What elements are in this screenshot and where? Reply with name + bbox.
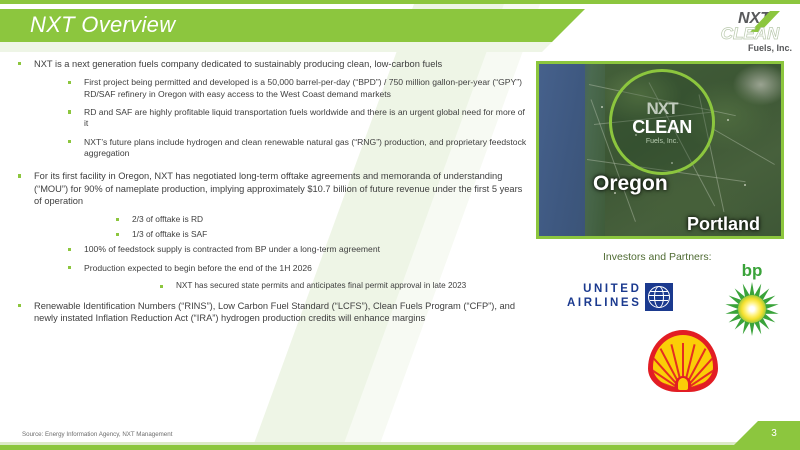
bullet-marker-icon bbox=[68, 248, 71, 251]
bp-helios-icon bbox=[725, 282, 779, 336]
bullet-item: 100% of feedstock supply is contracted f… bbox=[0, 244, 530, 255]
bullet-item: Production expected to begin before the … bbox=[0, 263, 530, 274]
map-canvas: Oregon Portland NXT CLEAN Fuels, Inc. bbox=[539, 64, 781, 236]
bullet-marker-icon bbox=[68, 81, 71, 84]
footer-accent-rule bbox=[0, 445, 800, 450]
bullet-text: First project being permitted and develo… bbox=[84, 77, 522, 98]
bullet-item: NXT is a next generation fuels company d… bbox=[0, 58, 530, 70]
map-badge-fuels: Fuels, Inc. bbox=[646, 138, 678, 145]
united-airlines-wordmark: UNITED AIRLINES bbox=[567, 283, 641, 310]
map-label-state: Oregon bbox=[593, 172, 668, 196]
bullet-text: 100% of feedstock supply is contracted f… bbox=[84, 244, 380, 254]
bp-core bbox=[738, 295, 766, 323]
bullet-text: NXT’s future plans include hydrogen and … bbox=[84, 137, 526, 158]
header-band-shadow bbox=[0, 42, 620, 52]
map-ocean bbox=[539, 64, 585, 236]
bullet-item: For its first facility in Oregon, NXT ha… bbox=[0, 170, 530, 207]
bullet-text: Renewable Identification Numbers (“RINS”… bbox=[34, 301, 515, 323]
bullet-item: 2/3 of offtake is RD bbox=[0, 214, 530, 225]
bullet-marker-icon bbox=[68, 140, 71, 143]
bullet-text: RD and SAF are highly profitable liquid … bbox=[84, 107, 525, 128]
united-line2: AIRLINES bbox=[567, 297, 641, 311]
top-accent-rule bbox=[0, 0, 800, 4]
bullet-text: NXT is a next generation fuels company d… bbox=[34, 59, 442, 69]
investors-heading: Investors and Partners: bbox=[603, 251, 712, 263]
page-number: 3 bbox=[757, 428, 777, 439]
bullet-item: NXT has secured state permits and antici… bbox=[0, 281, 530, 292]
shell-logo bbox=[648, 330, 718, 396]
page-title: NXT Overview bbox=[30, 12, 175, 38]
bullet-marker-icon bbox=[18, 174, 21, 177]
bullet-text: 1/3 of offtake is SAF bbox=[132, 229, 207, 239]
shell-notch-inner bbox=[678, 378, 688, 390]
united-globe-icon bbox=[645, 283, 673, 311]
slide: NXT Overview NXT CLEAN Fuels, Inc. NXT i… bbox=[0, 0, 800, 450]
bullet-text: Production expected to begin before the … bbox=[84, 263, 312, 273]
united-line1: UNITED bbox=[567, 283, 641, 297]
map-marker bbox=[601, 106, 603, 108]
bullet-item: First project being permitted and develo… bbox=[0, 77, 530, 100]
logo-fuels-text: Fuels, Inc. bbox=[748, 43, 792, 53]
bp-logo: bp bbox=[725, 262, 779, 336]
bullet-marker-icon bbox=[116, 218, 119, 221]
map-logo-badge: NXT CLEAN Fuels, Inc. bbox=[609, 69, 715, 175]
bullet-marker-icon bbox=[18, 304, 21, 307]
globe-line bbox=[650, 300, 668, 301]
map-marker bbox=[727, 119, 729, 121]
bullet-marker-icon bbox=[68, 110, 71, 113]
bullet-list: NXT is a next generation fuels company d… bbox=[0, 58, 530, 331]
bullet-text: NXT has secured state permits and antici… bbox=[176, 281, 466, 290]
oregon-map-image: Oregon Portland NXT CLEAN Fuels, Inc. bbox=[536, 61, 784, 239]
bullet-marker-icon bbox=[160, 285, 163, 288]
source-note: Source: Energy Information Agency, NXT M… bbox=[22, 431, 172, 438]
bullet-marker-icon bbox=[68, 266, 71, 269]
map-badge-nxt: NXT bbox=[647, 100, 678, 117]
bullet-item: NXT’s future plans include hydrogen and … bbox=[0, 137, 530, 160]
globe-line bbox=[650, 291, 668, 292]
united-airlines-logo: UNITED AIRLINES bbox=[567, 283, 673, 311]
map-badge-clean: CLEAN bbox=[632, 118, 692, 136]
bullet-marker-icon bbox=[116, 233, 119, 236]
map-marker bbox=[744, 184, 746, 186]
bullet-item: Renewable Identification Numbers (“RINS”… bbox=[0, 300, 530, 325]
company-logo: NXT CLEAN Fuels, Inc. bbox=[710, 6, 792, 56]
bullet-marker-icon bbox=[18, 62, 21, 65]
bullet-text: 2/3 of offtake is RD bbox=[132, 214, 203, 224]
company-logo-svg: NXT CLEAN Fuels, Inc. bbox=[710, 6, 792, 56]
map-label-city: Portland bbox=[687, 214, 760, 235]
bullet-item: RD and SAF are highly profitable liquid … bbox=[0, 107, 530, 130]
bullet-item: 1/3 of offtake is SAF bbox=[0, 229, 530, 240]
logo-clean-text: CLEAN bbox=[721, 24, 780, 43]
globe-line bbox=[649, 295, 669, 296]
bp-wordmark: bp bbox=[725, 262, 779, 279]
bullet-text: For its first facility in Oregon, NXT ha… bbox=[34, 171, 522, 206]
